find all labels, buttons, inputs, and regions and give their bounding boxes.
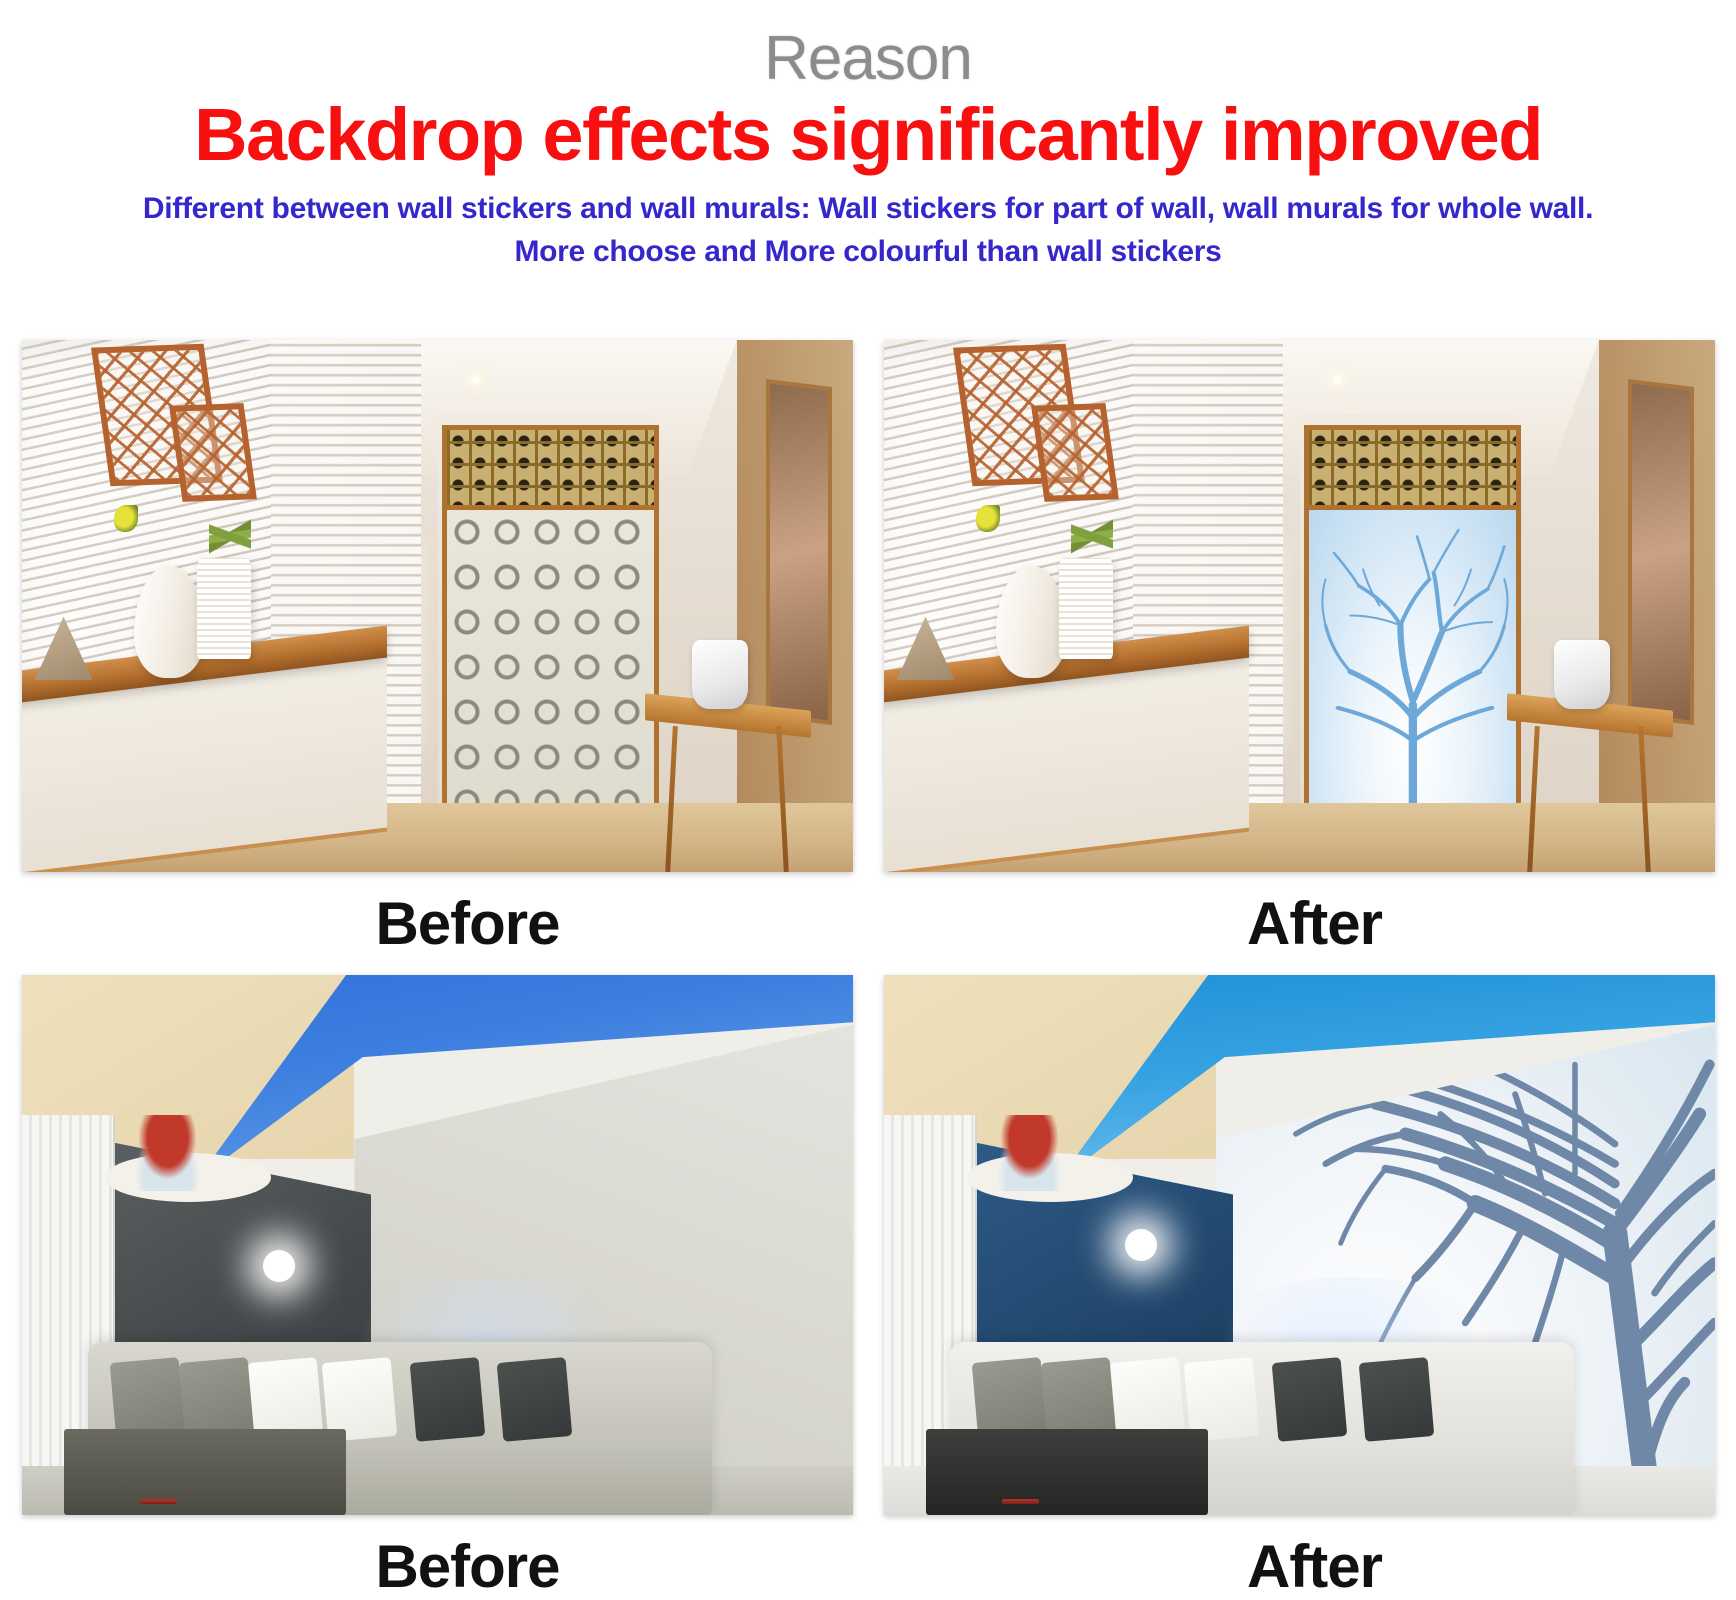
hallway-before-cell: Before [22, 340, 853, 954]
comparison-row-hallway: Before [0, 330, 1736, 965]
living-room-after-photo [884, 975, 1715, 1515]
flower-vase [130, 1115, 205, 1191]
flower-vase [992, 1115, 1067, 1191]
tree-mural-icon [1309, 510, 1517, 840]
wood-lattice-small-icon [1031, 403, 1119, 502]
side-table-leg [665, 726, 678, 872]
hallway-after-photo [884, 340, 1715, 872]
side-table-leg [1527, 726, 1540, 872]
side-table [1507, 702, 1673, 872]
spot-light-icon [1125, 1229, 1157, 1261]
blue-tree-wall-mural [1304, 505, 1522, 845]
comparison-row-living-room: Before [0, 965, 1736, 1595]
coffee-table [926, 1429, 1209, 1515]
table-ornament [692, 640, 749, 708]
side-table-leg [776, 726, 789, 872]
side-table-leg [1638, 726, 1651, 872]
header: Reason Backdrop effects significantly im… [0, 0, 1736, 273]
caption-before-hallway: Before [22, 872, 853, 954]
caption-after-hallway: After [884, 872, 1715, 954]
plain-patterned-wallpaper [442, 505, 660, 845]
ceiling-light-icon [471, 375, 480, 384]
plant-leaves [209, 494, 251, 579]
subtitle-line-1: Different between wall stickers and wall… [0, 188, 1736, 231]
fretwork-transom [1304, 425, 1522, 515]
table-ornament [1554, 640, 1611, 708]
hallway-after-cell: After [884, 340, 1715, 954]
cushion [496, 1357, 571, 1442]
framed-art [766, 378, 832, 724]
coffee-table [64, 1429, 347, 1515]
framed-art [1628, 378, 1694, 724]
subtitle-block: Different between wall stickers and wall… [0, 172, 1736, 273]
caption-after-living-room: After [884, 1515, 1715, 1597]
ceiling-light-icon [1333, 375, 1342, 384]
cushion [1271, 1357, 1346, 1442]
plant-leaves [1071, 494, 1113, 579]
hallway-before-photo [22, 340, 853, 872]
books [1002, 1499, 1039, 1503]
caption-before-living-room: Before [22, 1515, 853, 1597]
eyebrow-title: Reason [0, 0, 1736, 90]
side-table [645, 702, 811, 872]
books [140, 1499, 177, 1503]
living-room-after-cell: After [884, 975, 1715, 1597]
living-room-before-photo [22, 975, 853, 1515]
fretwork-transom [442, 425, 660, 515]
wood-lattice-small-icon [169, 403, 257, 502]
comparison-grid: Before [0, 330, 1736, 1595]
subtitle-line-2: More choose and More colourful than wall… [0, 231, 1736, 274]
cushion [409, 1357, 484, 1442]
page-headline: Backdrop effects significantly improved [0, 90, 1736, 172]
cushion [1358, 1357, 1433, 1442]
living-room-before-cell: Before [22, 975, 853, 1597]
